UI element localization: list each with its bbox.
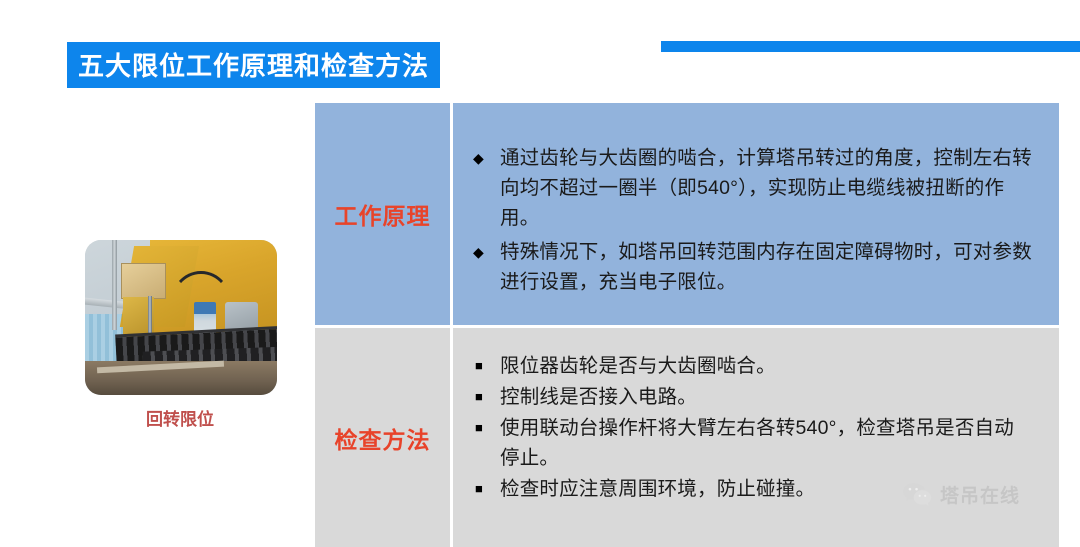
slewing-limit-switch-photo bbox=[85, 240, 277, 395]
photo-pipe bbox=[112, 240, 117, 330]
row-body-working-principle: 通过齿轮与大齿圈的啮合，计算塔吊转过的角度，控制左右转向均不超过一圈半（即540… bbox=[453, 103, 1059, 325]
table-row-working-principle: 工作原理 通过齿轮与大齿圈的啮合，计算塔吊转过的角度，控制左右转向均不超过一圈半… bbox=[315, 103, 1059, 325]
photo-caption: 回转限位 bbox=[67, 405, 293, 430]
watermark-text: 塔吊在线 bbox=[940, 481, 1020, 508]
list-item: 特殊情况下，如塔吊回转范围内存在固定障碍物时，可对参数进行设置，充当电子限位。 bbox=[473, 237, 1033, 297]
slide-canvas: 五大限位工作原理和检查方法 回转限位 bbox=[0, 0, 1080, 547]
wechat-icon bbox=[902, 482, 932, 508]
list-item: 通过齿轮与大齿圈的啮合，计算塔吊转过的角度，控制左右转向均不超过一圈半（即540… bbox=[473, 143, 1033, 233]
row-label-working-principle: 工作原理 bbox=[335, 197, 431, 231]
row-label-cell-working-principle: 工作原理 bbox=[315, 103, 450, 325]
table-row-inspection-method: 检查方法 限位器齿轮是否与大齿圈啮合。 控制线是否接入电路。 使用联动台操作杆将… bbox=[315, 328, 1059, 547]
photo-sensor-cap bbox=[194, 302, 215, 314]
watermark: 塔吊在线 bbox=[902, 481, 1020, 508]
row-body-inspection-method: 限位器齿轮是否与大齿圈啮合。 控制线是否接入电路。 使用联动台操作杆将大臂左右各… bbox=[453, 328, 1059, 547]
page-title-bar: 五大限位工作原理和检查方法 bbox=[67, 42, 440, 88]
row-label-cell-inspection-method: 检查方法 bbox=[315, 328, 450, 547]
row-label-inspection-method: 检查方法 bbox=[335, 421, 431, 455]
list-item: 控制线是否接入电路。 bbox=[473, 382, 1033, 412]
list-item: 使用联动台操作杆将大臂左右各转540°，检查塔吊是否自动停止。 bbox=[473, 413, 1033, 473]
list-item: 限位器齿轮是否与大齿圈啮合。 bbox=[473, 351, 1033, 381]
header-accent-rule bbox=[661, 41, 1080, 52]
photo-column: 回转限位 bbox=[67, 103, 293, 547]
photo-bracket bbox=[121, 263, 165, 299]
page-title: 五大限位工作原理和检查方法 bbox=[78, 46, 429, 83]
bullet-list-working-principle: 通过齿轮与大齿圈的啮合，计算塔吊转过的角度，控制左右转向均不超过一圈半（即540… bbox=[473, 143, 1033, 297]
